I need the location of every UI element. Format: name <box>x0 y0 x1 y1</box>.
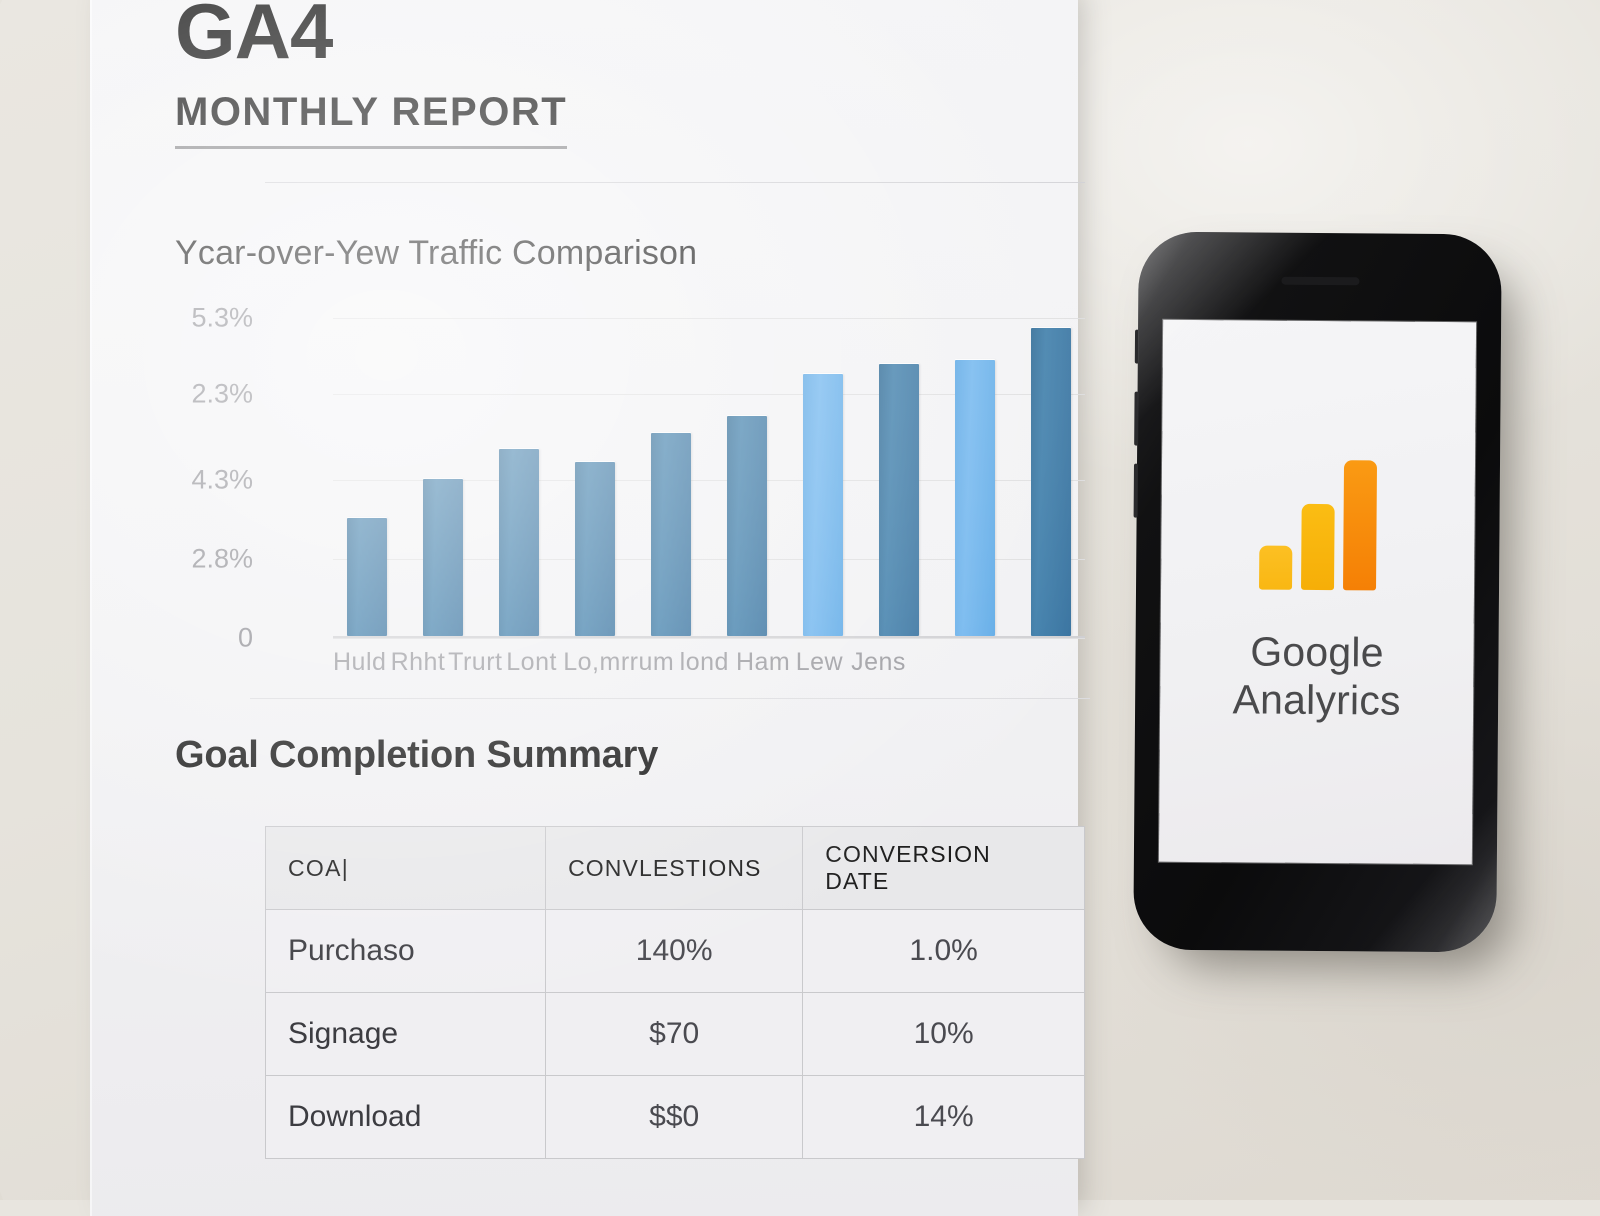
x-axis-tick-label: Lont <box>506 648 558 677</box>
chart-bar[interactable] <box>347 518 387 636</box>
x-axis-tick-label: rrum <box>621 648 673 677</box>
page-title: GA4 <box>175 0 993 70</box>
app-name-line-1: Google <box>1250 627 1384 676</box>
bar-slot <box>713 308 781 636</box>
y-axis-tick-label: 2.8% <box>191 543 253 574</box>
section-divider <box>250 698 1090 699</box>
goal-name-cell: Download <box>266 1076 546 1159</box>
y-axis-tick-label: 0 <box>238 623 253 654</box>
chart-bar[interactable] <box>423 479 463 636</box>
bar-chart: 5.3%2.3%4.3%2.8%0 <box>265 308 1085 638</box>
goal-section-title: Goal Completion Summary <box>175 734 993 777</box>
bar-slot <box>865 308 933 636</box>
x-axis-tick-label: Huld <box>333 648 385 677</box>
mute-switch[interactable] <box>1135 330 1139 364</box>
logo-bar-medium <box>1301 503 1335 589</box>
chart-bar[interactable] <box>803 374 843 636</box>
conversion-rate-cell: 14% <box>803 1076 1085 1159</box>
logo-bar-large <box>1343 460 1377 590</box>
report-header: GA4 MONTHLY REPORT <box>175 0 993 149</box>
table-row: Download$$014% <box>266 1076 1085 1159</box>
chart-bar[interactable] <box>1031 328 1071 636</box>
x-axis-labels: HuldRhhtTrurtLontLo,mrrumlondHamLewJens <box>333 648 903 677</box>
table-row: Purchaso140%1.0% <box>266 910 1085 993</box>
header-divider <box>265 182 1085 183</box>
table-column-header[interactable]: CONVLESTIONS <box>546 827 803 910</box>
y-axis-tick-label: 5.3% <box>191 302 253 333</box>
volume-up-button[interactable] <box>1134 392 1138 446</box>
table-column-header[interactable]: CONVERSION DATE <box>803 827 1085 910</box>
x-axis-tick-label: Lo,m <box>563 648 615 677</box>
x-axis-tick-label: Rhht <box>391 648 443 677</box>
report-sheet: GA4 MONTHLY REPORT Ycar-over-Yew Traffic… <box>90 0 1078 1216</box>
google-analytics-logo-icon <box>1259 459 1377 590</box>
phone-screen[interactable]: Google Analyrics <box>1159 320 1476 864</box>
app-name-line-2: Analyrics <box>1232 675 1400 725</box>
chart-plot-area <box>333 308 1085 636</box>
goal-summary-table: COA|CONVLESTIONSCONVERSION DATE Purchaso… <box>265 826 1085 1159</box>
x-axis-tick-label: Jens <box>851 648 903 677</box>
chart-bar[interactable] <box>575 462 615 636</box>
gridline <box>333 638 1085 639</box>
chart-bar[interactable] <box>879 364 919 636</box>
conversions-cell: $70 <box>546 993 803 1076</box>
report-subtitle: MONTHLY REPORT <box>175 92 567 149</box>
bar-slot <box>941 308 1009 636</box>
bar-slot <box>637 308 705 636</box>
chart-bar[interactable] <box>727 416 767 636</box>
table-header-row: COA|CONVLESTIONSCONVERSION DATE <box>266 827 1085 910</box>
chart-title: Ycar-over-Yew Traffic Comparison <box>175 234 993 273</box>
bar-slot <box>485 308 553 636</box>
y-axis-tick-label: 2.3% <box>191 378 253 409</box>
x-axis-tick-label: Ham <box>736 648 788 677</box>
table-column-header[interactable]: COA| <box>266 827 546 910</box>
conversions-cell: $$0 <box>546 1076 803 1159</box>
conversions-cell: 140% <box>546 910 803 993</box>
table-row: Signage$7010% <box>266 993 1085 1076</box>
x-axis-line <box>333 636 1085 638</box>
bar-slot <box>1017 308 1085 636</box>
conversion-rate-cell: 10% <box>803 993 1085 1076</box>
chart-bar[interactable] <box>651 433 691 636</box>
chart-bar[interactable] <box>499 449 539 636</box>
x-axis-tick-label: Lew <box>794 648 846 677</box>
earpiece-speaker-icon <box>1281 277 1359 286</box>
goal-name-cell: Purchaso <box>266 910 546 993</box>
x-axis-tick-label: lond <box>678 648 730 677</box>
bar-slot <box>333 308 401 636</box>
bar-slot <box>409 308 477 636</box>
bar-slot <box>789 308 857 636</box>
goal-name-cell: Signage <box>266 993 546 1076</box>
chart-bar[interactable] <box>955 360 995 636</box>
volume-down-button[interactable] <box>1134 464 1138 518</box>
smartphone[interactable]: Google Analyrics <box>1133 232 1502 953</box>
x-axis-tick-label: Trurt <box>448 648 500 677</box>
conversion-rate-cell: 1.0% <box>803 910 1085 993</box>
logo-bar-small <box>1259 545 1292 589</box>
table-body: Purchaso140%1.0%Signage$7010%Download$$0… <box>266 910 1085 1159</box>
y-axis-tick-label: 4.3% <box>191 464 253 495</box>
bar-slot <box>561 308 629 636</box>
